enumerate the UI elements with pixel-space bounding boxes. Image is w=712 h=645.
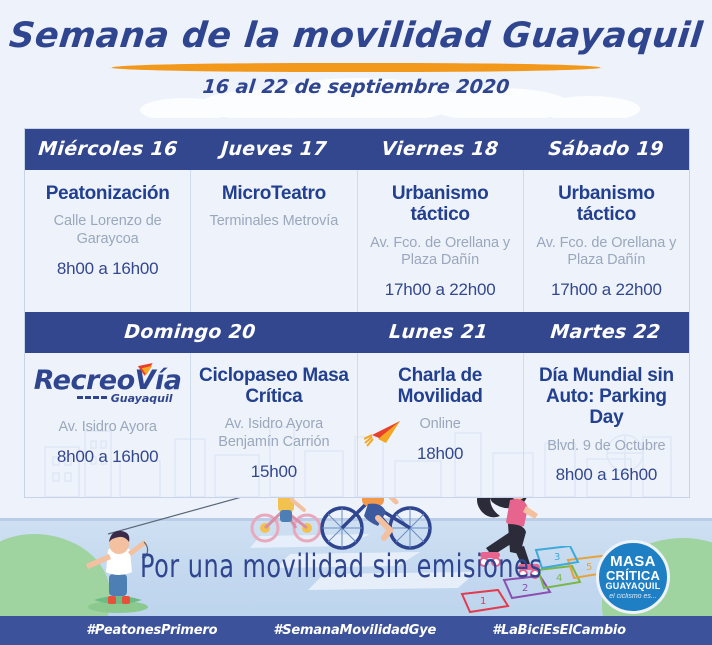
event-title: Día Mundial sin Auto: Parking Day: [530, 365, 683, 429]
event-place: Terminales Metrovía: [197, 213, 350, 231]
event-title: Peatonización: [31, 183, 184, 204]
badge-line-3: GUAYAQUIL: [605, 582, 660, 591]
day-header-domingo: Domingo 20: [23, 312, 357, 353]
event-time: 8h00 a 16h00: [530, 465, 683, 485]
masa-critica-badge[interactable]: MASA CRÍTICA GUAYAQUIL el ciclismo es...: [596, 540, 670, 614]
event-place: Blvd. 9 de Octubre: [530, 438, 683, 456]
event-place: Calle Lorenzo de Garaycoa: [31, 213, 184, 248]
badge-line-4: el ciclismo es...: [609, 593, 656, 600]
hashtag-labici-es-elcambio[interactable]: #LaBiciEsElCambio: [492, 623, 626, 638]
schedule-header-row-2: Domingo 20 Lunes 21 Martes 22: [25, 312, 689, 353]
hashtag-bar: #PeatonesPrimero #SemanaMovilidadGye #La…: [0, 616, 712, 645]
svg-text:3: 3: [554, 552, 560, 563]
event-time: 8h00 a 16h00: [31, 259, 184, 279]
event-cell-recreovia[interactable]: RecreoVía Guayaquil Av. Isidro Ayora 8h0…: [25, 353, 191, 497]
event-place: Av. Isidro Ayora Benjamín Carrión: [197, 416, 350, 451]
event-place: Av. Fco. de Orellana y Plaza Dañín: [364, 235, 517, 270]
recreovia-logo-sub: Guayaquil: [65, 392, 184, 405]
woman-bicycle-illustration: [318, 498, 434, 550]
event-place: Av. Isidro Ayora: [31, 419, 184, 437]
schedule-table: Miércoles 16 Jueves 17 Viernes 18 Sábado…: [24, 128, 690, 498]
kite-icon: [364, 419, 404, 453]
event-cell-charla[interactable]: Charla de Movilidad Online 18h00: [358, 353, 524, 497]
day-header-lunes: Lunes 21: [353, 312, 524, 353]
schedule-body-row-1: Peatonización Calle Lorenzo de Garaycoa …: [25, 170, 689, 312]
event-cell-urbanismo-sabado[interactable]: Urbanismo táctico Av. Fco. de Orellana y…: [524, 170, 689, 312]
tagline-text: Por una movilidad sin emisiones: [140, 547, 542, 585]
day-header-sabado: Sábado 19: [521, 129, 691, 170]
event-cell-peatonizacion[interactable]: Peatonización Calle Lorenzo de Garaycoa …: [25, 170, 191, 312]
event-title: Urbanismo táctico: [364, 183, 517, 226]
badge-line-1: MASA: [610, 554, 656, 569]
badge-line-2: CRÍTICA: [606, 569, 660, 582]
event-title: Ciclopaseo Masa Crítica: [197, 365, 350, 408]
poster-root: Semana de la movilidad Guayaquil 16 al 2…: [0, 0, 712, 645]
event-time: 15h00: [197, 462, 350, 482]
event-cell-microteatro[interactable]: MicroTeatro Terminales Metrovía: [191, 170, 357, 312]
event-title: Charla de Movilidad: [364, 365, 517, 408]
day-header-martes: Martes 22: [520, 312, 691, 353]
event-title: MicroTeatro: [197, 183, 350, 204]
event-title: Urbanismo táctico: [530, 183, 683, 226]
event-time: 8h00 a 16h00: [31, 447, 184, 467]
event-cell-ciclopaseo[interactable]: Ciclopaseo Masa Crítica Av. Isidro Ayora…: [191, 353, 357, 497]
day-header-jueves: Jueves 17: [189, 129, 359, 170]
footer-illustration: 1 2 4 5 3 Por una movilidad sin emisione…: [0, 498, 712, 645]
orange-swoosh-divider: [112, 63, 600, 72]
page-title: Semana de la movilidad Guayaquil: [0, 16, 712, 56]
schedule-body-row-2: RecreoVía Guayaquil Av. Isidro Ayora 8h0…: [25, 353, 689, 497]
svg-text:4: 4: [556, 573, 562, 584]
hashtag-semana-movilidad[interactable]: #SemanaMovilidadGye: [273, 623, 436, 638]
svg-text:1: 1: [480, 596, 486, 607]
dashed-line-icon: [77, 396, 107, 399]
svg-text:5: 5: [586, 562, 592, 573]
day-header-viernes: Viernes 18: [355, 129, 525, 170]
event-time: 17h00 a 22h00: [530, 280, 683, 300]
recreovia-logo: RecreoVía Guayaquil: [31, 365, 184, 415]
child-bicycle-illustration: [248, 498, 328, 546]
date-range-subtitle: 16 al 22 de septiembre 2020: [0, 76, 712, 98]
poster-header: Semana de la movilidad Guayaquil 16 al 2…: [0, 0, 712, 118]
event-time: 17h00 a 22h00: [364, 280, 517, 300]
event-cell-dia-mundial[interactable]: Día Mundial sin Auto: Parking Day Blvd. …: [524, 353, 689, 497]
event-cell-urbanismo-viernes[interactable]: Urbanismo táctico Av. Fco. de Orellana y…: [358, 170, 524, 312]
event-place: Av. Fco. de Orellana y Plaza Dañín: [530, 235, 683, 270]
day-header-miercoles: Miércoles 16: [23, 129, 193, 170]
schedule-header-row-1: Miércoles 16 Jueves 17 Viernes 18 Sábado…: [25, 129, 689, 170]
hashtag-peatones-primero[interactable]: #PeatonesPrimero: [86, 623, 217, 638]
